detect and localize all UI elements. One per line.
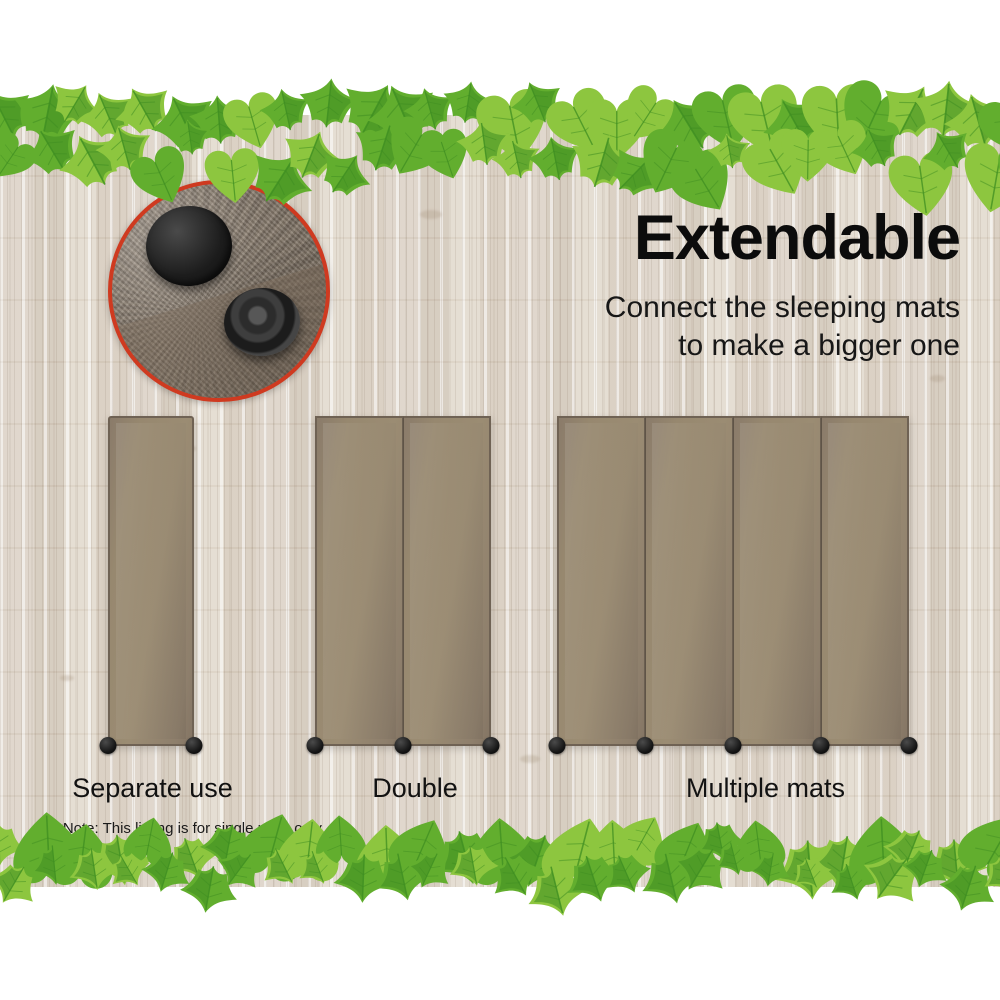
sleeping-mat — [403, 416, 491, 746]
connector-dot-icon — [100, 737, 117, 754]
footnote-note: *Note: This listing is for single mats o… — [57, 820, 325, 837]
mat-highlight — [116, 423, 186, 739]
mat-stack — [557, 416, 909, 746]
sleeping-mat — [315, 416, 403, 746]
connector-dot-row — [557, 737, 909, 755]
mat-group-caption-double: Double — [300, 773, 530, 804]
mat-group-double — [315, 416, 491, 746]
mat-group-caption-separate-use: Separate use — [40, 773, 265, 804]
mat-group-caption-multiple-mats: Multiple mats — [628, 773, 903, 804]
connector-closeup-inset — [108, 180, 330, 402]
mat-group-multiple-mats — [557, 416, 909, 746]
mat-highlight — [828, 423, 901, 739]
connector-dot-icon — [901, 737, 918, 754]
mat-stack — [108, 416, 194, 746]
mat-highlight — [652, 423, 726, 739]
connector-dot-icon — [549, 737, 566, 754]
connector-dot-icon — [813, 737, 830, 754]
sleeping-mat — [733, 416, 821, 746]
connector-dot-icon — [483, 737, 500, 754]
connector-dot-icon — [725, 737, 742, 754]
page-title: Extendable — [520, 206, 960, 270]
sleeping-mat — [821, 416, 909, 746]
page-subtitle: Connect the sleeping mats to make a bigg… — [500, 289, 960, 366]
subtitle-line-1: Connect the sleeping mats — [500, 289, 960, 327]
sleeping-mat — [557, 416, 645, 746]
mat-highlight — [565, 423, 638, 739]
mat-stack — [315, 416, 491, 746]
connector-dot-row — [108, 737, 194, 755]
mat-group-separate-use — [108, 416, 194, 746]
sleeping-mat — [645, 416, 733, 746]
connector-dot-row — [315, 737, 491, 755]
connector-dot-icon — [186, 737, 203, 754]
connector-dot-icon — [395, 737, 412, 754]
mat-highlight — [410, 423, 483, 739]
subtitle-line-2: to make a bigger one — [500, 327, 960, 365]
infographic-canvas: Extendable Connect the sleeping mats to … — [0, 0, 1000, 1000]
connector-dot-icon — [307, 737, 324, 754]
mat-highlight — [740, 423, 814, 739]
connector-dot-icon — [637, 737, 654, 754]
sleeping-mat — [108, 416, 194, 746]
mat-highlight — [323, 423, 396, 739]
